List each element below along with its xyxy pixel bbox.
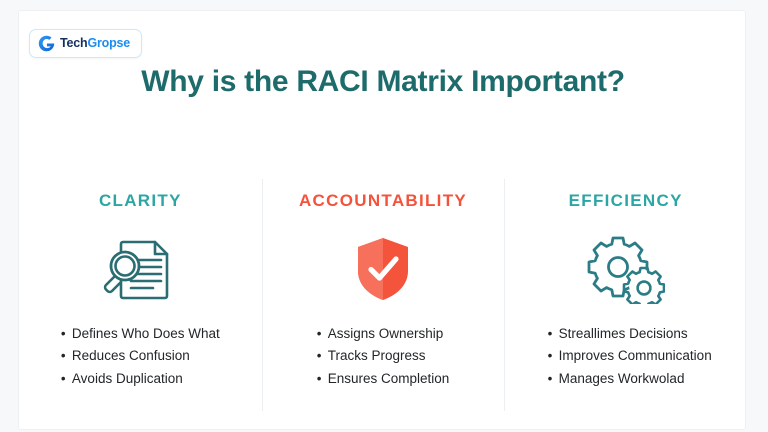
pillar-clarity: CLARITY De xyxy=(19,171,262,416)
list-item: Ensures Completion xyxy=(317,368,450,390)
content-card: TechGropse Why is the RACI Matrix Import… xyxy=(18,10,746,430)
list-item: Streallimes Decisions xyxy=(548,323,712,345)
pillar-efficiency: EFFICIENCY Str xyxy=(504,171,747,416)
brand-name: TechGropse xyxy=(60,37,130,50)
brand-name-part2: Gropse xyxy=(87,36,130,50)
infographic-canvas: TechGropse Why is the RACI Matrix Import… xyxy=(0,0,768,432)
list-item: Assigns Ownership xyxy=(317,323,450,345)
pillar-icon-clarity xyxy=(101,229,179,309)
brand-name-part1: Tech xyxy=(60,36,87,50)
pillar-heading-clarity: CLARITY xyxy=(99,191,182,211)
g-circle-logo-icon xyxy=(38,35,55,52)
document-magnifier-icon xyxy=(101,234,179,304)
pillar-bullets-clarity: Defines Who Does What Reduces Confusion … xyxy=(61,323,220,390)
list-item: Avoids Duplication xyxy=(61,368,220,390)
list-item: Improves Communication xyxy=(548,345,712,367)
shield-check-icon xyxy=(352,234,414,304)
list-item: Reduces Confusion xyxy=(61,345,220,367)
pillar-accountability: ACCOUNTABILITY Assigns Ownership Tracks … xyxy=(262,171,505,416)
brand-logo[interactable]: TechGropse xyxy=(29,29,142,58)
pillar-bullets-efficiency: Streallimes Decisions Improves Communica… xyxy=(548,323,712,390)
pillar-bullets-accountability: Assigns Ownership Tracks Progress Ensure… xyxy=(317,323,450,390)
list-item: Tracks Progress xyxy=(317,345,450,367)
list-item: Manages Workwolad xyxy=(548,368,712,390)
pillar-icon-efficiency xyxy=(587,229,665,309)
pillar-icon-accountability xyxy=(352,229,414,309)
pillars-row: CLARITY De xyxy=(19,171,747,416)
pillar-heading-accountability: ACCOUNTABILITY xyxy=(299,191,467,211)
pillar-heading-efficiency: EFFICIENCY xyxy=(569,191,683,211)
list-item: Defines Who Does What xyxy=(61,323,220,345)
gears-icon xyxy=(587,234,665,304)
page-title: Why is the RACI Matrix Important? xyxy=(19,65,747,99)
